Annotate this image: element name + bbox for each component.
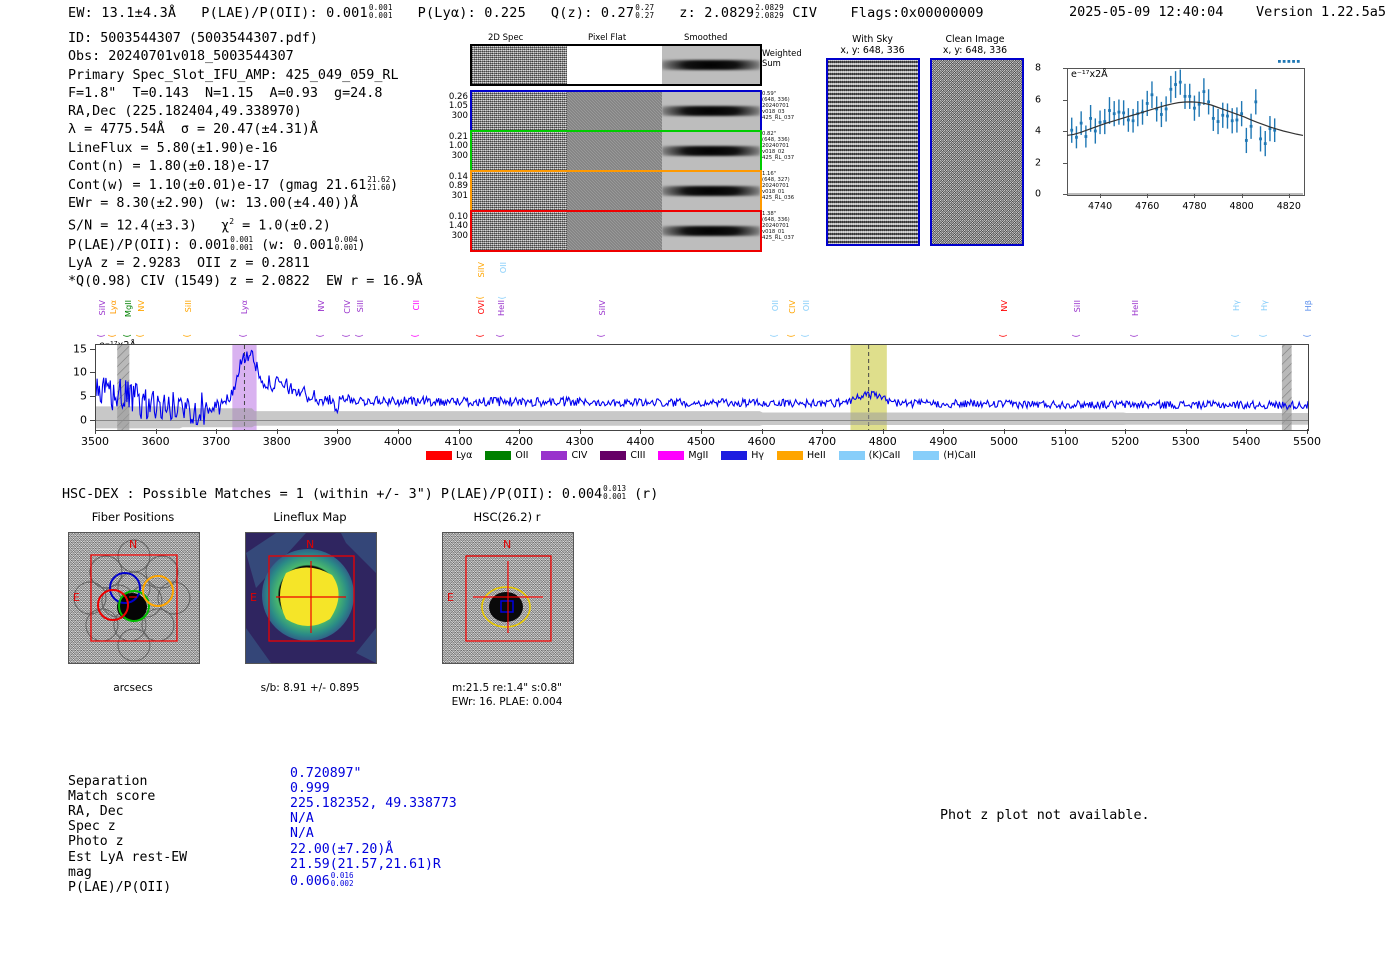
hsc-r-title: HSC(26.2) r bbox=[474, 510, 541, 524]
table-row[interactable] bbox=[470, 90, 762, 132]
info-lineflux: LineFlux = 5.80(±1.90)e-16 bbox=[68, 140, 423, 158]
line-marker-label: HeII bbox=[1130, 300, 1140, 316]
line-marker-label: SiII bbox=[1072, 300, 1082, 312]
spectrum-ytick: 0 bbox=[65, 413, 87, 426]
line-marker-bracket: ( bbox=[496, 334, 506, 338]
legend-swatch bbox=[913, 451, 939, 460]
info-snr-chi2: S/N = 12.4(±3.3) χ2 = 1.0(±0.2) bbox=[68, 213, 423, 236]
spectrum-legend: LyαOIICIVCIIIMgIIHγHeII(K)CaII(H)CaII bbox=[95, 450, 1307, 461]
header-z-line: CIV bbox=[792, 5, 817, 21]
table-row[interactable] bbox=[470, 130, 762, 172]
line-marker-bracket: ( bbox=[1303, 334, 1313, 338]
header-plya: P(Lyα): 0.225 bbox=[418, 5, 526, 21]
line-marker-label: Lyα bbox=[108, 300, 118, 314]
legend-label: MgII bbox=[688, 450, 708, 461]
line-marker-bracket: ( bbox=[1072, 334, 1082, 338]
line-marker-bracket: ( bbox=[1259, 334, 1269, 338]
header-qz-value: 0.27 bbox=[601, 5, 634, 21]
spectrum-xtick: 4200 bbox=[505, 435, 533, 448]
line-marker-label: NV bbox=[316, 300, 326, 312]
match-plae-range: 0.0160.002 bbox=[331, 872, 354, 888]
header-plae-label: P(LAE)/P(OII): bbox=[201, 5, 318, 21]
spectrum-xtick: 4800 bbox=[869, 435, 897, 448]
line-marker-bracket: ( bbox=[1231, 334, 1241, 338]
line-marker-label: SiIV bbox=[476, 262, 486, 278]
header-summary-line: EW: 13.1±4.3Å P(LAE)/P(OII): 0.0010.0010… bbox=[68, 4, 984, 21]
spectrum-xtick: 5100 bbox=[1051, 435, 1079, 448]
spectrum-ytick: 15 bbox=[65, 342, 87, 355]
info-cont-w: Cont(w) = 1.10(±0.01)e-17 (gmag 21.6121.… bbox=[68, 176, 423, 195]
line-marker-label: HeII bbox=[496, 300, 506, 316]
spectrum-ytick: 5 bbox=[65, 389, 87, 402]
legend-label: HeII bbox=[807, 450, 826, 461]
match-row-value: 0.720897" bbox=[290, 766, 361, 781]
line-marker-bracket: ( bbox=[787, 334, 797, 338]
line-marker-label: Hγ bbox=[1259, 300, 1269, 311]
line-marker-bracket: ( bbox=[999, 334, 1009, 338]
match-row-key: RA, Dec bbox=[68, 804, 124, 819]
line-fit-xtick: 4780 bbox=[1182, 201, 1206, 212]
report-datestamp: 2025-05-09 12:40:04 bbox=[1069, 4, 1223, 20]
legend-item: HeII bbox=[777, 450, 826, 461]
full-spectrum-plot[interactable]: e⁻¹⁷x2Å (SiIV(Lyα(MgII(NV(SiII(Lyα(NV(CI… bbox=[95, 282, 1307, 462]
twod-row-stats: 0.101.40300 bbox=[430, 213, 468, 241]
info-radec: RA,Dec (225.182404,49.338970) bbox=[68, 103, 423, 121]
line-marker-label: Hγ bbox=[1231, 300, 1241, 311]
match-row-value: 0.999 bbox=[290, 781, 330, 796]
match-row-value: N/A bbox=[290, 826, 314, 841]
legend-label: Hγ bbox=[751, 450, 764, 461]
legend-label: (K)CaII bbox=[869, 450, 901, 461]
line-marker-label: OII bbox=[498, 262, 508, 273]
match-row-key: Photo z bbox=[68, 834, 124, 849]
line-marker-label: OII bbox=[801, 300, 811, 311]
line-marker-label: Lyα bbox=[239, 300, 249, 314]
match-row-key: Est LyA rest-EW bbox=[68, 850, 187, 865]
match-details-table: Separation0.720897"Match score0.999RA, D… bbox=[68, 774, 488, 901]
with-sky-image[interactable] bbox=[826, 58, 920, 246]
legend-swatch bbox=[600, 451, 626, 460]
compass-north: N bbox=[503, 538, 511, 551]
info-lambda-sigma: λ = 4775.54Å σ = 20.47(±4.31)Å bbox=[68, 121, 423, 139]
twod-col-header-2dspec: 2D Spec bbox=[488, 33, 523, 43]
fiber-positions-image[interactable]: N E 420-2-4-4-2024 bbox=[68, 532, 200, 664]
legend-swatch bbox=[541, 451, 567, 460]
info-plae-range: 0.0010.001 bbox=[230, 236, 253, 252]
line-marker-label: CII bbox=[411, 300, 421, 311]
line-marker-bracket: ( bbox=[1130, 334, 1140, 338]
clean-image-title: Clean Imagex, y: 648, 336 bbox=[925, 34, 1025, 56]
info-plae: P(LAE)/P(OII): 0.0010.0010.001 (w: 0.001… bbox=[68, 236, 423, 255]
match-row-value: 0.0060.0160.002 bbox=[290, 872, 354, 889]
legend-swatch bbox=[777, 451, 803, 460]
spectrum-xtick: 4700 bbox=[808, 435, 836, 448]
match-row-key: Spec z bbox=[68, 819, 116, 834]
twod-weighted-sum-label: WeightedSum bbox=[762, 49, 802, 68]
match-row-value: 225.182352, 49.338773 bbox=[290, 796, 457, 811]
legend-item: Lyα bbox=[426, 450, 472, 461]
spectrum-xtick: 4900 bbox=[929, 435, 957, 448]
legend-swatch bbox=[839, 451, 865, 460]
twod-row-stats: 0.261.05300 bbox=[430, 93, 468, 121]
line-marker-label: SiII bbox=[355, 300, 365, 312]
line-marker-bracket: ( bbox=[476, 334, 486, 338]
match-row-value: 22.00(±7.20)Å bbox=[290, 842, 393, 857]
match-row-value: 21.59(21.57,21.61)R bbox=[290, 857, 441, 872]
line-marker-bracket: ( bbox=[183, 334, 193, 338]
twod-row-stats: 0.140.89301 bbox=[430, 173, 468, 201]
twod-row-stats: 0.211.00300 bbox=[430, 133, 468, 161]
lineflux-map-title: Lineflux Map bbox=[273, 510, 346, 524]
info-cont-n: Cont(n) = 1.80(±0.18)e-17 bbox=[68, 158, 423, 176]
line-marker-bracket: ( bbox=[801, 334, 811, 338]
spectrum-xtick: 3900 bbox=[323, 435, 351, 448]
legend-item: OII bbox=[485, 450, 528, 461]
line-marker-label: SiIV bbox=[597, 300, 607, 316]
header-ew: EW: 13.1±4.3Å bbox=[68, 5, 176, 21]
twod-row-meta: 1.38"(648, 336)20240701v018_01425_RL_037 bbox=[762, 211, 794, 241]
lineflux-map-panel[interactable]: Lineflux Map bbox=[245, 532, 375, 662]
spectrum-xtick: 3600 bbox=[142, 435, 170, 448]
line-marker-bracket: ( bbox=[97, 334, 107, 338]
detection-info-block: ID: 5003544307 (5003544307.pdf) Obs: 202… bbox=[68, 30, 423, 292]
spectrum-line-markers: (SiIV(Lyα(MgII(NV(SiII(Lyα(NV(CIV(SiII(C… bbox=[95, 282, 1307, 344]
clean-image[interactable] bbox=[930, 58, 1024, 246]
report-version: Version 1.22.5a5 bbox=[1256, 4, 1386, 20]
info-redshifts: LyA z = 2.9283 OII z = 0.2811 bbox=[68, 255, 423, 273]
legend-swatch bbox=[426, 451, 452, 460]
line-marker-label: SiII bbox=[183, 300, 193, 312]
with-sky-title: With Skyx, y: 648, 336 bbox=[825, 34, 920, 56]
spectrum-xtick: 3700 bbox=[202, 435, 230, 448]
line-marker-label: CIV bbox=[787, 300, 797, 314]
line-marker-bracket: ( bbox=[342, 334, 352, 338]
line-marker-bracket: ( bbox=[476, 296, 486, 300]
legend-label: CIII bbox=[630, 450, 645, 461]
line-marker-label: SiIV bbox=[97, 300, 107, 316]
info-primary-spec: Primary Spec_Slot_IFU_AMP: 425_049_059_R… bbox=[68, 67, 423, 85]
line-marker-label: CIV bbox=[342, 300, 352, 314]
legend-label: (H)CaII bbox=[943, 450, 976, 461]
header-plae-range: 0.0010.001 bbox=[369, 4, 393, 20]
legend-item: Hγ bbox=[721, 450, 764, 461]
info-ewr: EWr = 8.30(±2.90) (w: 13.00(±4.40))Å bbox=[68, 195, 423, 213]
line-marker-label: Hβ bbox=[1303, 300, 1313, 311]
line-fit-xtick: 4820 bbox=[1277, 201, 1301, 212]
spectrum-ytick: 10 bbox=[65, 366, 87, 379]
legend-item: CIII bbox=[600, 450, 645, 461]
line-marker-bracket: ( bbox=[597, 334, 607, 338]
twod-row-meta: 1.16"(648, 327)20240701v018_01425_RL_036 bbox=[762, 171, 794, 201]
info-id: ID: 5003544307 (5003544307.pdf) bbox=[68, 30, 423, 48]
line-fit-xtick: 4800 bbox=[1230, 201, 1254, 212]
twod-col-header-pixelflat: Pixel Flat bbox=[588, 33, 626, 43]
info-gmag-range: 21.6221.60 bbox=[367, 176, 390, 192]
line-marker-bracket: ( bbox=[108, 334, 118, 338]
legend-item: MgII bbox=[658, 450, 708, 461]
line-marker-label: OII bbox=[770, 300, 780, 311]
header-z-label: z: bbox=[679, 5, 696, 21]
header-qz-label: Q(z): bbox=[551, 5, 593, 21]
hsc-r-image[interactable]: N E 420-2-4-4-2024 bbox=[442, 532, 574, 664]
fiber-positions-panel[interactable]: Fiber Positions N E 420-2-4-4-2024 arcse… bbox=[68, 532, 198, 662]
twod-row-weighted-sum bbox=[470, 44, 762, 86]
match-row-key: mag bbox=[68, 865, 92, 880]
fiber-positions-caption: arcsecs bbox=[113, 682, 152, 694]
match-row-key: P(LAE)/P(OII) bbox=[68, 880, 171, 895]
lineflux-map-image[interactable]: N E 420-2-4-4-2024 bbox=[245, 532, 377, 664]
spectrum-xtick: 5000 bbox=[990, 435, 1018, 448]
photoz-unavailable-message: Phot z plot not available. bbox=[940, 808, 1150, 823]
legend-label: CIV bbox=[571, 450, 587, 461]
fiber-positions-title: Fiber Positions bbox=[92, 510, 175, 524]
legend-swatch bbox=[721, 451, 747, 460]
twod-row-meta: 0.82"(648, 336)20240701v018_02425_RL_037 bbox=[762, 131, 794, 161]
compass-north: N bbox=[129, 538, 137, 551]
hscdex-plae-range: 0.0130.001 bbox=[603, 485, 626, 501]
line-marker-label: OVI bbox=[476, 300, 486, 314]
hsc-r-panel[interactable]: HSC(26.2) r N E 420-2-4-4-2024 m:21.5 re… bbox=[442, 532, 572, 662]
line-marker-bracket: ( bbox=[136, 334, 146, 338]
header-flags: Flags:0x00000009 bbox=[850, 5, 983, 21]
line-fit-plot[interactable]: e⁻¹⁷x2Å 0246847404760478048004820 bbox=[1037, 60, 1309, 220]
spectrum-xtick: 4000 bbox=[384, 435, 412, 448]
twod-spectrum-panel: 2D Spec Pixel Flat Smoothed WeightedSum … bbox=[430, 33, 800, 248]
compass-north: N bbox=[306, 538, 314, 551]
legend-swatch bbox=[485, 451, 511, 460]
info-plae-w-range: 0.0040.001 bbox=[335, 236, 358, 252]
spectrum-xtick: 4600 bbox=[748, 435, 776, 448]
legend-label: OII bbox=[515, 450, 528, 461]
line-fit-axes: 0246847404760478048004820 bbox=[1037, 60, 1309, 220]
info-obs: Obs: 20240701v018_5003544307 bbox=[68, 48, 423, 66]
spectrum-frame bbox=[95, 344, 1309, 431]
lineflux-map-caption: s/b: 8.91 +/- 0.895 bbox=[261, 682, 360, 694]
spectrum-xtick: 4100 bbox=[445, 435, 473, 448]
legend-item: (H)CaII bbox=[913, 450, 976, 461]
spectrum-xtick: 5400 bbox=[1232, 435, 1260, 448]
line-marker-bracket: ( bbox=[239, 334, 249, 338]
spectrum-xtick: 4400 bbox=[626, 435, 654, 448]
header-qz-range: 0.270.27 bbox=[635, 4, 654, 20]
header-z-value: 2.0829 bbox=[704, 5, 754, 21]
match-row-key: Separation bbox=[68, 774, 147, 789]
line-fit-xtick: 4760 bbox=[1135, 201, 1159, 212]
table-row[interactable] bbox=[470, 170, 762, 212]
match-row-value: N/A bbox=[290, 811, 314, 826]
line-marker-label: MgII bbox=[123, 300, 133, 317]
spectrum-xtick: 5500 bbox=[1293, 435, 1321, 448]
hscdex-match-summary: HSC-DEX : Possible Matches = 1 (within +… bbox=[62, 485, 658, 502]
spectrum-xtick: 4300 bbox=[566, 435, 594, 448]
hsc-r-caption-2: EWr: 16. PLAE: 0.004 bbox=[452, 696, 563, 708]
legend-item: CIV bbox=[541, 450, 587, 461]
line-marker-bracket: ( bbox=[316, 334, 326, 338]
legend-label: Lyα bbox=[456, 450, 472, 461]
legend-item: (K)CaII bbox=[839, 450, 901, 461]
header-timestamp-version: 2025-05-09 12:40:04 Version 1.22.5a5 bbox=[1069, 4, 1386, 20]
line-fit-xtick: 4740 bbox=[1088, 201, 1112, 212]
header-z-range: 2.08292.0829 bbox=[755, 4, 784, 20]
match-row-key: Match score bbox=[68, 789, 155, 804]
compass-east: E bbox=[73, 591, 80, 604]
line-marker-label: NV bbox=[999, 300, 1009, 312]
line-marker-bracket: ( bbox=[770, 334, 780, 338]
line-marker-bracket: ( bbox=[411, 334, 421, 338]
spectrum-xtick: 5300 bbox=[1172, 435, 1200, 448]
header-plae-value: 0.001 bbox=[326, 5, 368, 21]
line-marker-bracket: ( bbox=[498, 296, 508, 300]
compass-east: E bbox=[447, 591, 454, 604]
spectrum-xtick: 5200 bbox=[1111, 435, 1139, 448]
hsc-r-caption-1: m:21.5 re:1.4" s:0.8" bbox=[452, 682, 562, 694]
line-marker-label: NV bbox=[136, 300, 146, 312]
spectrum-xtick: 4500 bbox=[687, 435, 715, 448]
line-marker-bracket: ( bbox=[123, 334, 133, 338]
spectrum-svg bbox=[96, 345, 1308, 430]
twod-row-meta: 0.59"(648, 336)20240701v018_03425_RL_037 bbox=[762, 91, 794, 121]
table-row[interactable] bbox=[470, 210, 762, 252]
spectrum-xtick: 3500 bbox=[81, 435, 109, 448]
compass-east: E bbox=[250, 591, 257, 604]
twod-col-header-smoothed: Smoothed bbox=[684, 33, 727, 43]
spectrum-xtick: 3800 bbox=[263, 435, 291, 448]
legend-swatch bbox=[658, 451, 684, 460]
line-marker-bracket: ( bbox=[355, 334, 365, 338]
info-seeing: F=1.8" T=0.143 N=1.15 A=0.93 g=24.8 bbox=[68, 85, 423, 103]
